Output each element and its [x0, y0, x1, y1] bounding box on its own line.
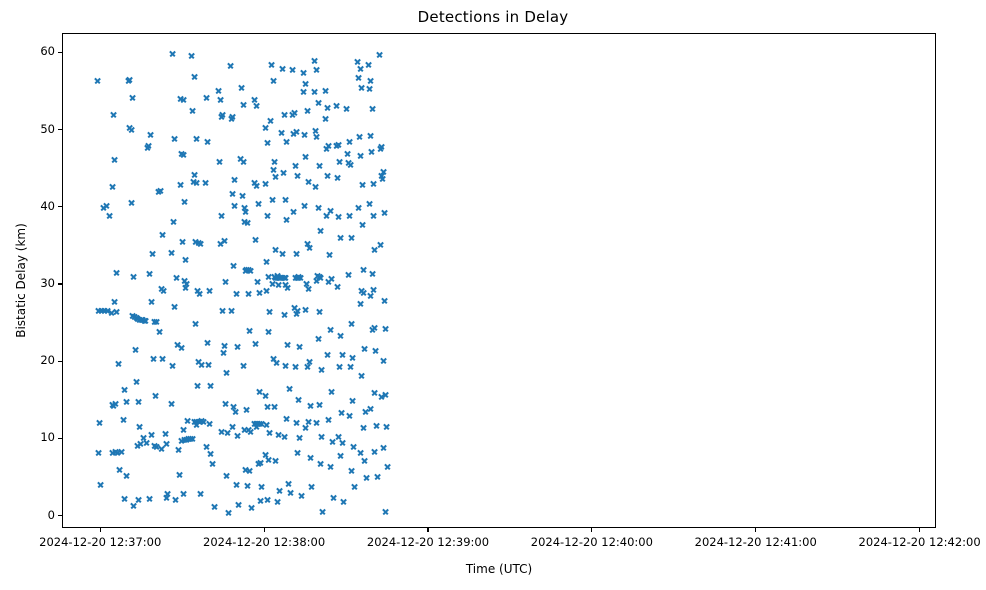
tick-mark: [58, 52, 62, 53]
scatter-series: [63, 34, 935, 527]
tick-label: 2024-12-20 12:39:00: [367, 535, 489, 549]
tick-mark: [58, 129, 62, 130]
tick-label: 10: [40, 430, 55, 444]
tick-mark: [58, 361, 62, 362]
x-axis-label: Time (UTC): [62, 562, 936, 576]
tick-mark: [427, 528, 428, 532]
tick-label: 2024-12-20 12:38:00: [203, 535, 325, 549]
tick-mark: [100, 528, 101, 532]
tick-label: 30: [40, 276, 55, 290]
tick-label: 2024-12-20 12:42:00: [859, 535, 981, 549]
plot-axes: [62, 33, 936, 528]
page-title: Detections in Delay: [0, 8, 986, 26]
tick-label: 40: [40, 199, 55, 213]
tick-mark: [58, 515, 62, 516]
tick-mark: [591, 528, 592, 532]
tick-label: 60: [40, 44, 55, 58]
tick-mark: [755, 528, 756, 532]
tick-label: 50: [40, 122, 55, 136]
tick-label: 0: [48, 508, 55, 522]
tick-label: 2024-12-20 12:37:00: [39, 535, 161, 549]
tick-mark: [919, 528, 920, 532]
tick-label: 2024-12-20 12:40:00: [531, 535, 653, 549]
y-axis-label: Bistatic Delay (km): [14, 33, 30, 528]
tick-mark: [264, 528, 265, 532]
tick-mark: [58, 283, 62, 284]
tick-label: 2024-12-20 12:41:00: [695, 535, 817, 549]
tick-mark: [58, 206, 62, 207]
tick-mark: [58, 438, 62, 439]
matplotlib-figure: Detections in Delay 0102030405060 2024-1…: [0, 0, 986, 590]
tick-label: 20: [40, 353, 55, 367]
